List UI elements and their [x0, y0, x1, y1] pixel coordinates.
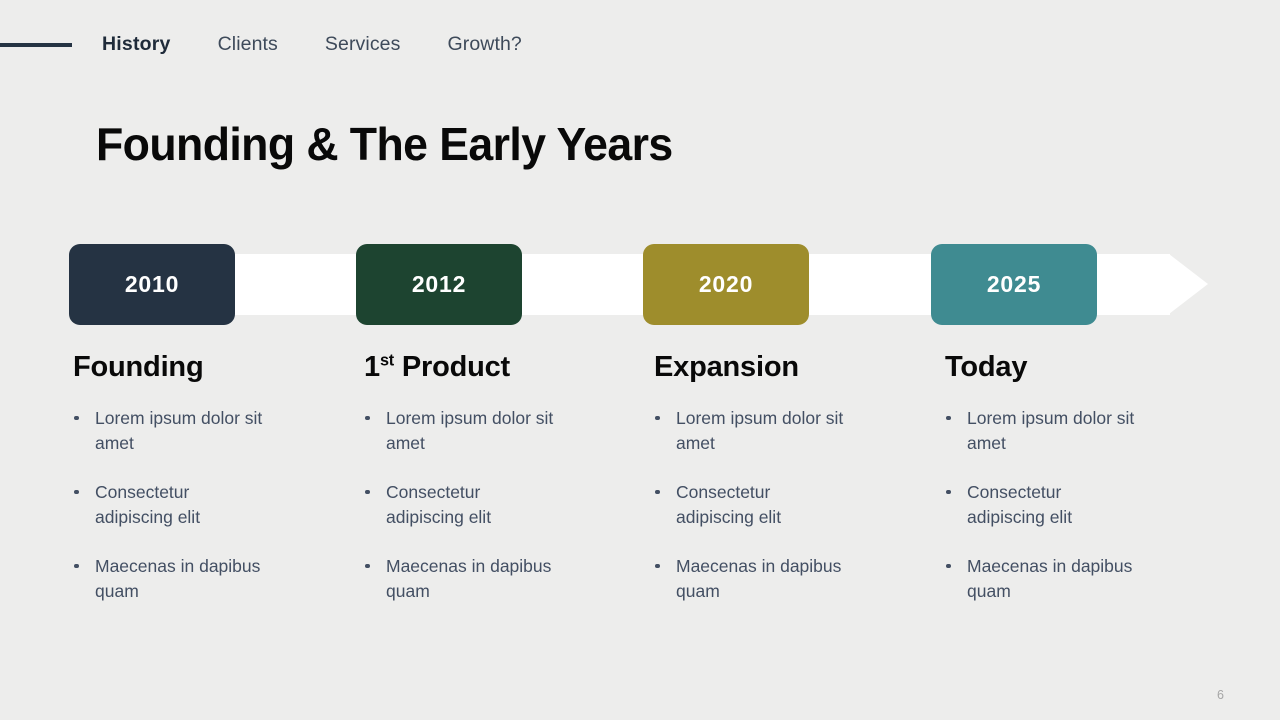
list-item: Maecenas in dapibus quam	[654, 554, 851, 604]
milestone-detail-columns: Founding Lorem ipsum dolor sit amet Cons…	[0, 352, 1280, 652]
nav-item-growth[interactable]: Growth?	[447, 33, 521, 56]
list-item-text: Maecenas in dapibus quam	[676, 556, 841, 601]
column-heading: Founding	[73, 352, 343, 384]
list-item-text: Maecenas in dapibus quam	[386, 556, 551, 601]
column-heading-ordinal-suffix: st	[380, 351, 394, 369]
bullet-dot-icon	[365, 416, 370, 421]
slide-title: Founding & The Early Years	[96, 118, 673, 171]
column-today: Today Lorem ipsum dolor sit amet Consect…	[945, 352, 1215, 604]
bullet-dot-icon	[365, 490, 370, 495]
list-item: Consectetur adipiscing elit	[73, 480, 270, 530]
timeline-milestone-2020[interactable]: 2020	[643, 244, 809, 325]
milestone-year-label: 2020	[699, 271, 753, 298]
bullet-list: Lorem ipsum dolor sit amet Consectetur a…	[945, 406, 1215, 604]
bullet-dot-icon	[365, 564, 370, 569]
timeline: 2010 2012 2020 2025	[0, 244, 1280, 326]
list-item: Maecenas in dapibus quam	[73, 554, 270, 604]
list-item: Lorem ipsum dolor sit amet	[945, 406, 1142, 456]
bullet-dot-icon	[946, 490, 951, 495]
bullet-list: Lorem ipsum dolor sit amet Consectetur a…	[73, 406, 343, 604]
top-navigation: History Clients Services Growth?	[0, 0, 1280, 88]
list-item-text: Consectetur adipiscing elit	[676, 482, 781, 527]
milestone-year-label: 2025	[987, 271, 1041, 298]
arrow-right-icon	[1169, 254, 1208, 314]
bullet-dot-icon	[946, 564, 951, 569]
milestone-year-label: 2012	[412, 271, 466, 298]
column-heading: Today	[945, 352, 1215, 384]
list-item: Maecenas in dapibus quam	[364, 554, 561, 604]
column-first-product: 1st Product Lorem ipsum dolor sit amet C…	[364, 352, 634, 604]
bullet-dot-icon	[74, 490, 79, 495]
list-item-text: Lorem ipsum dolor sit amet	[95, 408, 262, 453]
timeline-milestone-2025[interactable]: 2025	[931, 244, 1097, 325]
milestone-year-label: 2010	[125, 271, 179, 298]
list-item: Lorem ipsum dolor sit amet	[364, 406, 561, 456]
list-item: Consectetur adipiscing elit	[654, 480, 851, 530]
list-item-text: Consectetur adipiscing elit	[95, 482, 200, 527]
bullet-dot-icon	[946, 416, 951, 421]
list-item-text: Consectetur adipiscing elit	[967, 482, 1072, 527]
column-heading: Expansion	[654, 352, 924, 384]
bullet-dot-icon	[74, 564, 79, 569]
bullet-dot-icon	[655, 416, 660, 421]
list-item: Consectetur adipiscing elit	[364, 480, 561, 530]
list-item-text: Lorem ipsum dolor sit amet	[967, 408, 1134, 453]
list-item-text: Maecenas in dapibus quam	[967, 556, 1132, 601]
timeline-milestone-2010[interactable]: 2010	[69, 244, 235, 325]
bullet-dot-icon	[74, 416, 79, 421]
list-item: Consectetur adipiscing elit	[945, 480, 1142, 530]
column-heading: 1st Product	[364, 352, 634, 384]
list-item: Lorem ipsum dolor sit amet	[73, 406, 270, 456]
list-item: Maecenas in dapibus quam	[945, 554, 1142, 604]
bullet-list: Lorem ipsum dolor sit amet Consectetur a…	[364, 406, 634, 604]
column-heading-number: 1	[364, 351, 380, 383]
column-heading-rest: Product	[394, 351, 510, 383]
column-founding: Founding Lorem ipsum dolor sit amet Cons…	[73, 352, 343, 604]
list-item-text: Consectetur adipiscing elit	[386, 482, 491, 527]
bullet-dot-icon	[655, 564, 660, 569]
nav-item-services[interactable]: Services	[325, 33, 401, 56]
list-item-text: Lorem ipsum dolor sit amet	[676, 408, 843, 453]
timeline-milestone-2012[interactable]: 2012	[356, 244, 522, 325]
bullet-list: Lorem ipsum dolor sit amet Consectetur a…	[654, 406, 924, 604]
nav-item-list: History Clients Services Growth?	[102, 33, 569, 56]
horizontal-rule-icon	[0, 43, 72, 47]
column-expansion: Expansion Lorem ipsum dolor sit amet Con…	[654, 352, 924, 604]
list-item-text: Lorem ipsum dolor sit amet	[386, 408, 553, 453]
bullet-dot-icon	[655, 490, 660, 495]
list-item: Lorem ipsum dolor sit amet	[654, 406, 851, 456]
page-number: 6	[1217, 688, 1224, 702]
list-item-text: Maecenas in dapibus quam	[95, 556, 260, 601]
nav-item-history[interactable]: History	[102, 33, 171, 56]
nav-item-clients[interactable]: Clients	[218, 33, 278, 56]
